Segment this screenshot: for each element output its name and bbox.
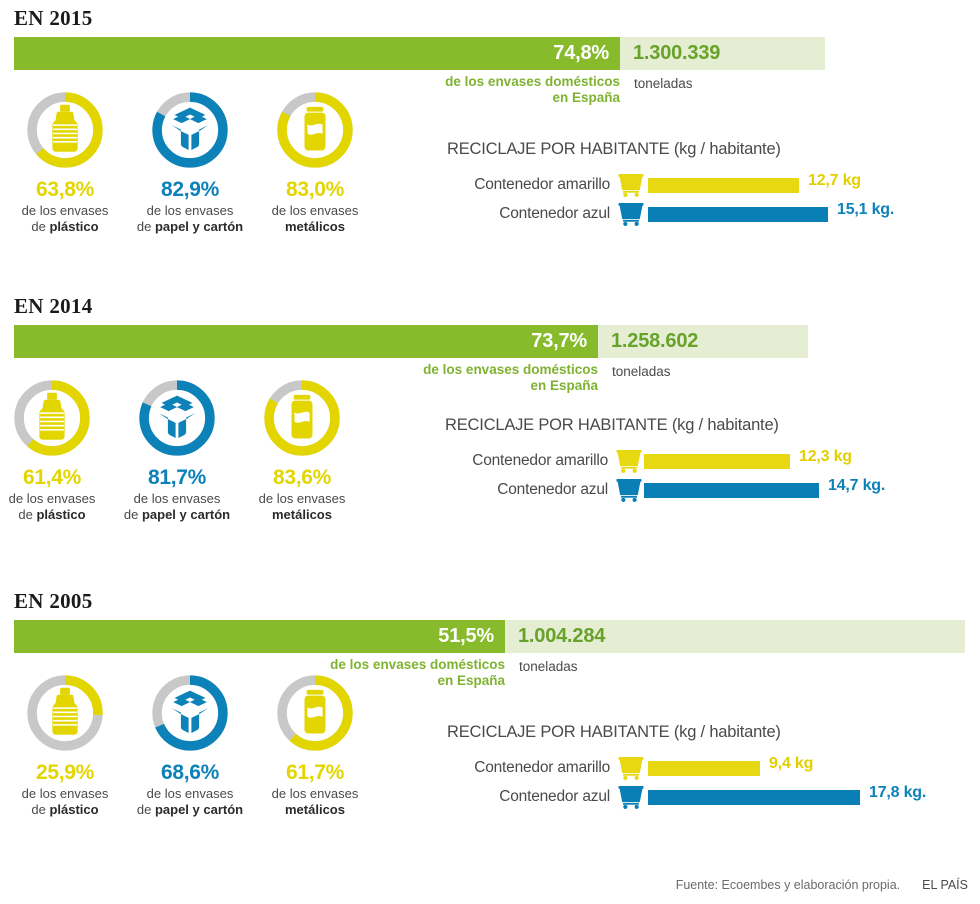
per-capita-bar xyxy=(644,483,819,498)
container-label: Contenedor azul xyxy=(348,481,608,499)
per-capita-value: 12,3 kg xyxy=(799,448,852,466)
headline-bar-fill: 74,8% xyxy=(14,37,620,70)
headline-bar-track: 1.004.284 xyxy=(505,620,965,653)
headline-bar-track: 1.258.602 xyxy=(598,325,808,358)
blue-cart-icon xyxy=(616,479,642,507)
headline-bar-fill: 51,5% xyxy=(14,620,505,653)
year-title: EN 2014 xyxy=(14,294,93,319)
per-capita-bar xyxy=(648,207,828,222)
headline-bar: 1.004.284 51,5% xyxy=(14,620,965,653)
headline-tons: 1.258.602 xyxy=(598,330,698,353)
headline-percent: 74,8% xyxy=(553,42,620,65)
per-capita-bar xyxy=(648,178,799,193)
container-label: Contenedor amarillo xyxy=(350,759,610,777)
headline-percent: 51,5% xyxy=(438,625,505,648)
per-capita-bar xyxy=(648,790,860,805)
per-capita-block: RECICLAJE POR HABITANTE (kg / habitante)… xyxy=(0,723,980,833)
yellow-cart-icon xyxy=(616,450,642,478)
headline-tons: 1.004.284 xyxy=(505,625,605,648)
headline-bar: 1.258.602 73,7% xyxy=(14,325,808,358)
per-capita-value: 17,8 kg. xyxy=(869,784,926,802)
headline-bar-track: 1.300.339 xyxy=(620,37,825,70)
per-capita-bar xyxy=(644,454,790,469)
per-capita-value: 9,4 kg xyxy=(769,755,813,773)
headline-tons: 1.300.339 xyxy=(620,42,720,65)
per-capita-bar xyxy=(648,761,760,776)
footer: Fuente: Ecoembes y elaboración propia. E… xyxy=(676,878,968,892)
headline-bar-fill: 73,7% xyxy=(14,325,598,358)
blue-cart-icon xyxy=(618,203,644,231)
per-capita-value: 14,7 kg. xyxy=(828,477,885,495)
yellow-cart-icon xyxy=(618,757,644,785)
tons-unit-label: toneladas xyxy=(634,76,693,92)
per-capita-title: RECICLAJE POR HABITANTE (kg / habitante) xyxy=(447,723,781,742)
yellow-cart-icon xyxy=(618,174,644,202)
footer-brand: EL PAÍS xyxy=(922,878,968,892)
container-label: Contenedor azul xyxy=(350,788,610,806)
container-label: Contenedor amarillo xyxy=(348,452,608,470)
container-label: Contenedor azul xyxy=(350,205,610,223)
headline-percent: 73,7% xyxy=(531,330,598,353)
per-capita-block: RECICLAJE POR HABITANTE (kg / habitante)… xyxy=(0,140,980,250)
per-capita-block: RECICLAJE POR HABITANTE (kg / habitante)… xyxy=(0,416,980,526)
tons-unit-label: toneladas xyxy=(612,364,671,380)
blue-cart-icon xyxy=(618,786,644,814)
per-capita-value: 15,1 kg. xyxy=(837,201,894,219)
tons-unit-label: toneladas xyxy=(519,659,578,675)
headline-bar: 1.300.339 74,8% xyxy=(14,37,825,70)
per-capita-title: RECICLAJE POR HABITANTE (kg / habitante) xyxy=(447,140,781,159)
year-title: EN 2015 xyxy=(14,6,93,31)
per-capita-title: RECICLAJE POR HABITANTE (kg / habitante) xyxy=(445,416,779,435)
container-label: Contenedor amarillo xyxy=(350,176,610,194)
per-capita-value: 12,7 kg xyxy=(808,172,861,190)
year-title: EN 2005 xyxy=(14,589,93,614)
footer-source: Fuente: Ecoembes y elaboración propia. xyxy=(676,878,900,892)
